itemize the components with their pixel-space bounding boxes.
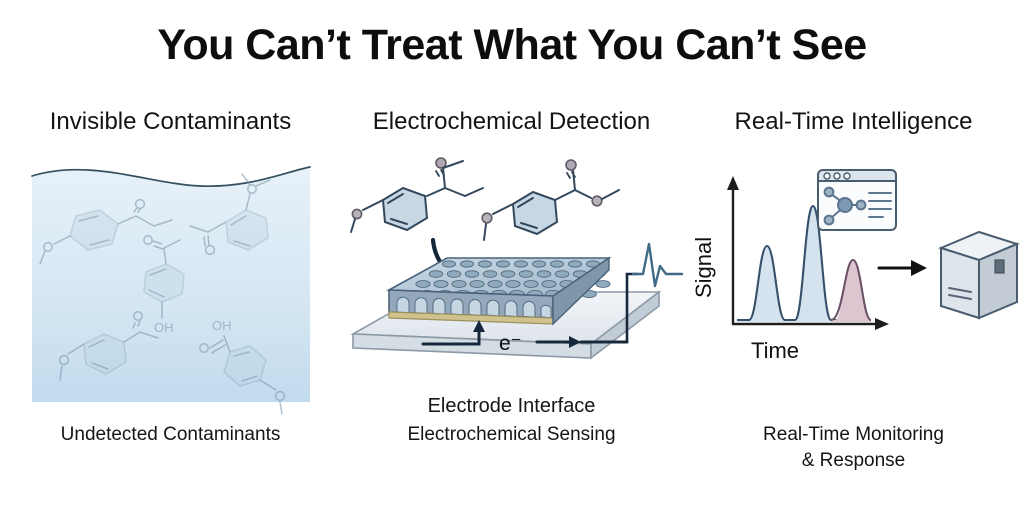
server-box-icon bbox=[941, 232, 1017, 318]
panel-invisible-contaminants: Invisible Contaminants bbox=[0, 90, 341, 506]
dashboard-window[interactable] bbox=[818, 170, 896, 230]
signal-spike-trace bbox=[633, 244, 682, 286]
flow-arrow-icon bbox=[879, 260, 927, 276]
server-indicator bbox=[995, 260, 1004, 273]
electrode-illustration: e⁻ bbox=[341, 148, 682, 398]
water-illustration: OH bbox=[0, 148, 341, 398]
panel-caption-1: Undetected Contaminants bbox=[0, 422, 341, 448]
panel-heading-3: Real-Time Intelligence bbox=[683, 108, 1024, 136]
panel-heading-2: Electrochemical Detection bbox=[341, 108, 682, 136]
product-molecule bbox=[482, 160, 619, 240]
panel-caption-2: Electrochemical Sensing bbox=[341, 422, 682, 448]
electron-label: e⁻ bbox=[499, 332, 522, 355]
panel-heading-1: Invisible Contaminants bbox=[0, 108, 341, 136]
reactant-molecule bbox=[351, 158, 483, 232]
molecule-3-label: OH bbox=[154, 320, 174, 335]
chart-ylabel: Signal bbox=[691, 237, 716, 298]
panel-electrochemical-detection: Electrochemical Detection bbox=[341, 90, 682, 506]
panel-caption-3-line1: Real-Time Monitoring bbox=[683, 422, 1024, 448]
monitoring-illustration: Signal Time bbox=[683, 148, 1024, 398]
electrode-svg: e⁻ bbox=[341, 148, 682, 398]
chart-xlabel: Time bbox=[751, 338, 799, 363]
electrode-interface-label: Electrode Interface bbox=[341, 393, 682, 420]
panel-real-time-intelligence: Real-Time Intelligence Signal bbox=[683, 90, 1024, 506]
dashboard-dots bbox=[824, 173, 850, 179]
water-svg: OH bbox=[0, 148, 341, 398]
molecule-5-label: OH bbox=[212, 318, 232, 333]
monitoring-svg: Signal Time bbox=[683, 148, 1024, 398]
page-title: You Can’t Treat What You Can’t See bbox=[0, 22, 1024, 69]
panel-caption-3: Real-Time Monitoring & Response bbox=[683, 422, 1024, 473]
infographic-root: You Can’t Treat What You Can’t See Invis… bbox=[0, 0, 1024, 506]
panel-caption-3-line2: & Response bbox=[683, 448, 1024, 474]
